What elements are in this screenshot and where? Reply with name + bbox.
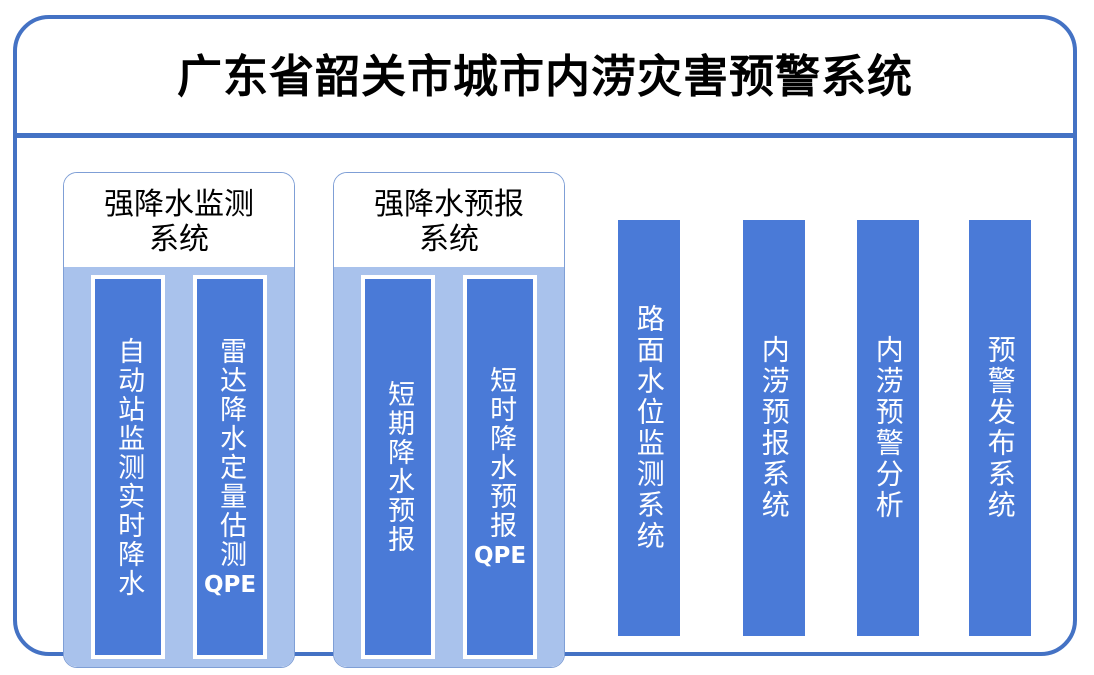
module-label: 路面水位监测系统 [634, 304, 663, 552]
module-label-suffix: QPE [474, 543, 526, 569]
group-rainfall-forecast: 强降水预报 系统 短期降水预报 短时降水预报 QPE [333, 172, 565, 668]
group-header-rainfall-forecast: 强降水预报 系统 [334, 173, 564, 267]
group-body-rainfall-forecast: 短期降水预报 短时降水预报 QPE [334, 267, 564, 667]
module-warning-release-system[interactable]: 预警发布系统 [969, 220, 1031, 636]
diagram-content: 强降水监测 系统 自动站监测实时降水 雷达降水定量估测 QPE 强降水预报 系统… [17, 138, 1073, 656]
module-waterlogging-warning-analysis[interactable]: 内涝预警分析 [857, 220, 919, 636]
module-label: 短期降水预报 [384, 380, 412, 554]
module-road-water-level-monitoring-system[interactable]: 路面水位监测系统 [618, 220, 680, 636]
group-header-rainfall-monitoring: 强降水监测 系统 [64, 173, 294, 267]
module-label: 短时降水预报 [486, 366, 514, 540]
module-label: 自动站监测实时降水 [114, 337, 142, 598]
module-waterlogging-forecast-system[interactable]: 内涝预报系统 [743, 220, 805, 636]
module-label: 内涝预报系统 [759, 335, 788, 521]
page-title: 广东省韶关市城市内涝灾害预警系统 [177, 54, 913, 99]
module-radar-qpe[interactable]: 雷达降水定量估测 QPE [193, 275, 267, 659]
group-body-rainfall-monitoring: 自动站监测实时降水 雷达降水定量估测 QPE [64, 267, 294, 667]
title-bar: 广东省韶关市城市内涝灾害预警系统 [17, 19, 1073, 133]
module-nowcast-rainfall-forecast-qpe[interactable]: 短时降水预报 QPE [463, 275, 537, 659]
module-label-suffix: QPE [204, 572, 256, 598]
module-label: 内涝预警分析 [873, 335, 902, 521]
module-auto-station-realtime-rainfall[interactable]: 自动站监测实时降水 [91, 275, 165, 659]
module-label: 预警发布系统 [985, 335, 1014, 521]
group-title-text: 强降水监测 系统 [104, 187, 254, 258]
group-rainfall-monitoring: 强降水监测 系统 自动站监测实时降水 雷达降水定量估测 QPE [63, 172, 295, 668]
module-short-range-rainfall-forecast[interactable]: 短期降水预报 [361, 275, 435, 659]
group-title-text: 强降水预报 系统 [374, 187, 524, 258]
system-architecture-card: 广东省韶关市城市内涝灾害预警系统 强降水监测 系统 自动站监测实时降水 雷达降水… [13, 15, 1077, 656]
module-label: 雷达降水定量估测 [216, 337, 244, 569]
